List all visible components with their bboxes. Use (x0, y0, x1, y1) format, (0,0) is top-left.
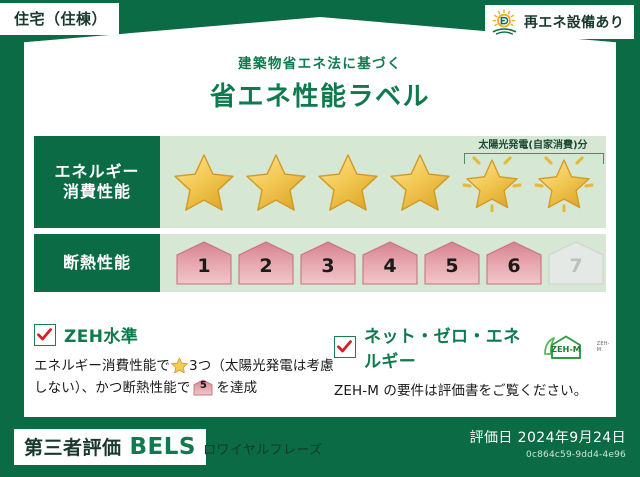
stars-container: 太陽光発電(自家消費)分 (160, 136, 606, 228)
insulation-levels-container: 1 2 3 4 (160, 241, 604, 285)
insulation-level-badge: 5 (424, 241, 480, 285)
bels-logo-text: BELS (130, 434, 196, 460)
nzeb-description: ZEH-M の要件は評価書をご覧ください。 (334, 381, 612, 403)
footer-bar: 第三者評価 BELS ロワイヤルフレーズ 評価日 2024年9月24日 0c86… (0, 417, 640, 477)
dwelling-type-tag: 住宅（住棟） (0, 3, 119, 35)
zeh-title: ZEH水準 (64, 322, 138, 347)
energy-performance-label: 住宅（住棟） 再エネ設備 (0, 0, 640, 477)
sun-solar-icon (491, 9, 519, 35)
insulation-level-number: 4 (383, 257, 396, 285)
label-title-block: 建築物省エネ法に基づく 省エネ性能ラベル (0, 52, 640, 113)
insulation-level-number: 2 (259, 257, 272, 285)
insulation-level-number: 5 (445, 257, 458, 285)
insulation-level-number: 3 (321, 257, 334, 285)
energy-label-line2: 消費性能 (63, 182, 131, 202)
energy-performance-label: エネルギー 消費性能 (34, 136, 160, 228)
zeh-star-count-text: 3つ（太陽光発電 (189, 358, 293, 374)
insulation-levels-area: 1 2 3 4 (160, 234, 606, 292)
energy-stars-area: 太陽光発電(自家消費)分 (160, 136, 606, 228)
nzeb-checkbox[interactable] (334, 336, 356, 358)
star-item (312, 136, 384, 228)
performance-table: エネルギー 消費性能 (34, 136, 606, 298)
zeh-text-part1: エネルギー消費性能で (34, 358, 170, 374)
building-name: ロワイヤルフレーズ (203, 439, 323, 458)
title-subtitle: 建築物省エネ法に基づく (0, 52, 640, 72)
insulation-level-badge-inactive: 7 (548, 241, 604, 285)
insulation-level-badge: 6 (486, 241, 542, 285)
insulation-level-number: 6 (507, 257, 520, 285)
renewable-equipment-badge: 再エネ設備あり (485, 5, 634, 39)
evaluation-id: 0c864c59-9dd4-4e96 (470, 450, 626, 460)
inline-house-level-icon: 5 (193, 379, 213, 396)
zeh-header: ZEH水準 (34, 322, 334, 347)
star-item (168, 136, 240, 228)
zeh-criterion: ZEH水準 エネルギー消費性能で3つ（太陽光発電は考慮しない）、かつ断熱性能で5… (34, 322, 334, 403)
energy-label-line1: エネルギー (54, 162, 139, 182)
insulation-level-badge: 3 (300, 241, 356, 285)
third-party-label: 第三者評価 (24, 433, 122, 460)
insulation-level-badge: 2 (238, 241, 294, 285)
title-main: 省エネ性能ラベル (0, 76, 640, 113)
inline-house-number: 5 (193, 379, 213, 396)
star-item-solar (456, 136, 528, 228)
svg-text:ZEH-M: ZEH-M (551, 344, 581, 354)
insulation-level-number: 7 (569, 257, 582, 285)
zeh-text-part3: を達成 (216, 380, 257, 396)
insulation-level-badge: 1 (176, 241, 232, 285)
nzeb-criterion: ネット・ゼロ・エネルギー ZEH-M ZEH-M. ZEH-M の要件は評価書を… (334, 322, 612, 403)
criteria-section: ZEH水準 エネルギー消費性能で3つ（太陽光発電は考慮しない）、かつ断熱性能で5… (34, 322, 612, 403)
evaluation-date: 評価日 2024年9月24日 (470, 427, 626, 447)
inline-star-icon (171, 357, 188, 373)
zeh-m-logo-icon: ZEH-M (538, 334, 588, 360)
star-item (384, 136, 456, 228)
evaluation-info: 評価日 2024年9月24日 0c864c59-9dd4-4e96 (470, 427, 626, 460)
insulation-label-line1: 断熱性能 (63, 253, 131, 273)
nzeb-header: ネット・ゼロ・エネルギー ZEH-M ZEH-M. (334, 322, 612, 372)
bels-certification-box: 第三者評価 BELS (14, 429, 206, 465)
insulation-level-badge: 4 (362, 241, 418, 285)
zeh-m-logo-subtext: ZEH-M. (597, 341, 612, 353)
star-item (240, 136, 312, 228)
zeh-description: エネルギー消費性能で3つ（太陽光発電は考慮しない）、かつ断熱性能で5を達成 (34, 356, 334, 400)
insulation-performance-row: 断熱性能 1 2 (34, 234, 606, 292)
check-icon (36, 326, 53, 343)
zeh-checkbox[interactable] (34, 324, 56, 346)
star-item-solar (528, 136, 600, 228)
check-icon (336, 338, 353, 355)
insulation-level-number: 1 (197, 257, 210, 285)
insulation-performance-label: 断熱性能 (34, 234, 160, 292)
renewable-badge-label: 再エネ設備あり (524, 12, 624, 32)
nzeb-title: ネット・ゼロ・エネルギー (364, 322, 530, 372)
energy-performance-row: エネルギー 消費性能 (34, 136, 606, 228)
